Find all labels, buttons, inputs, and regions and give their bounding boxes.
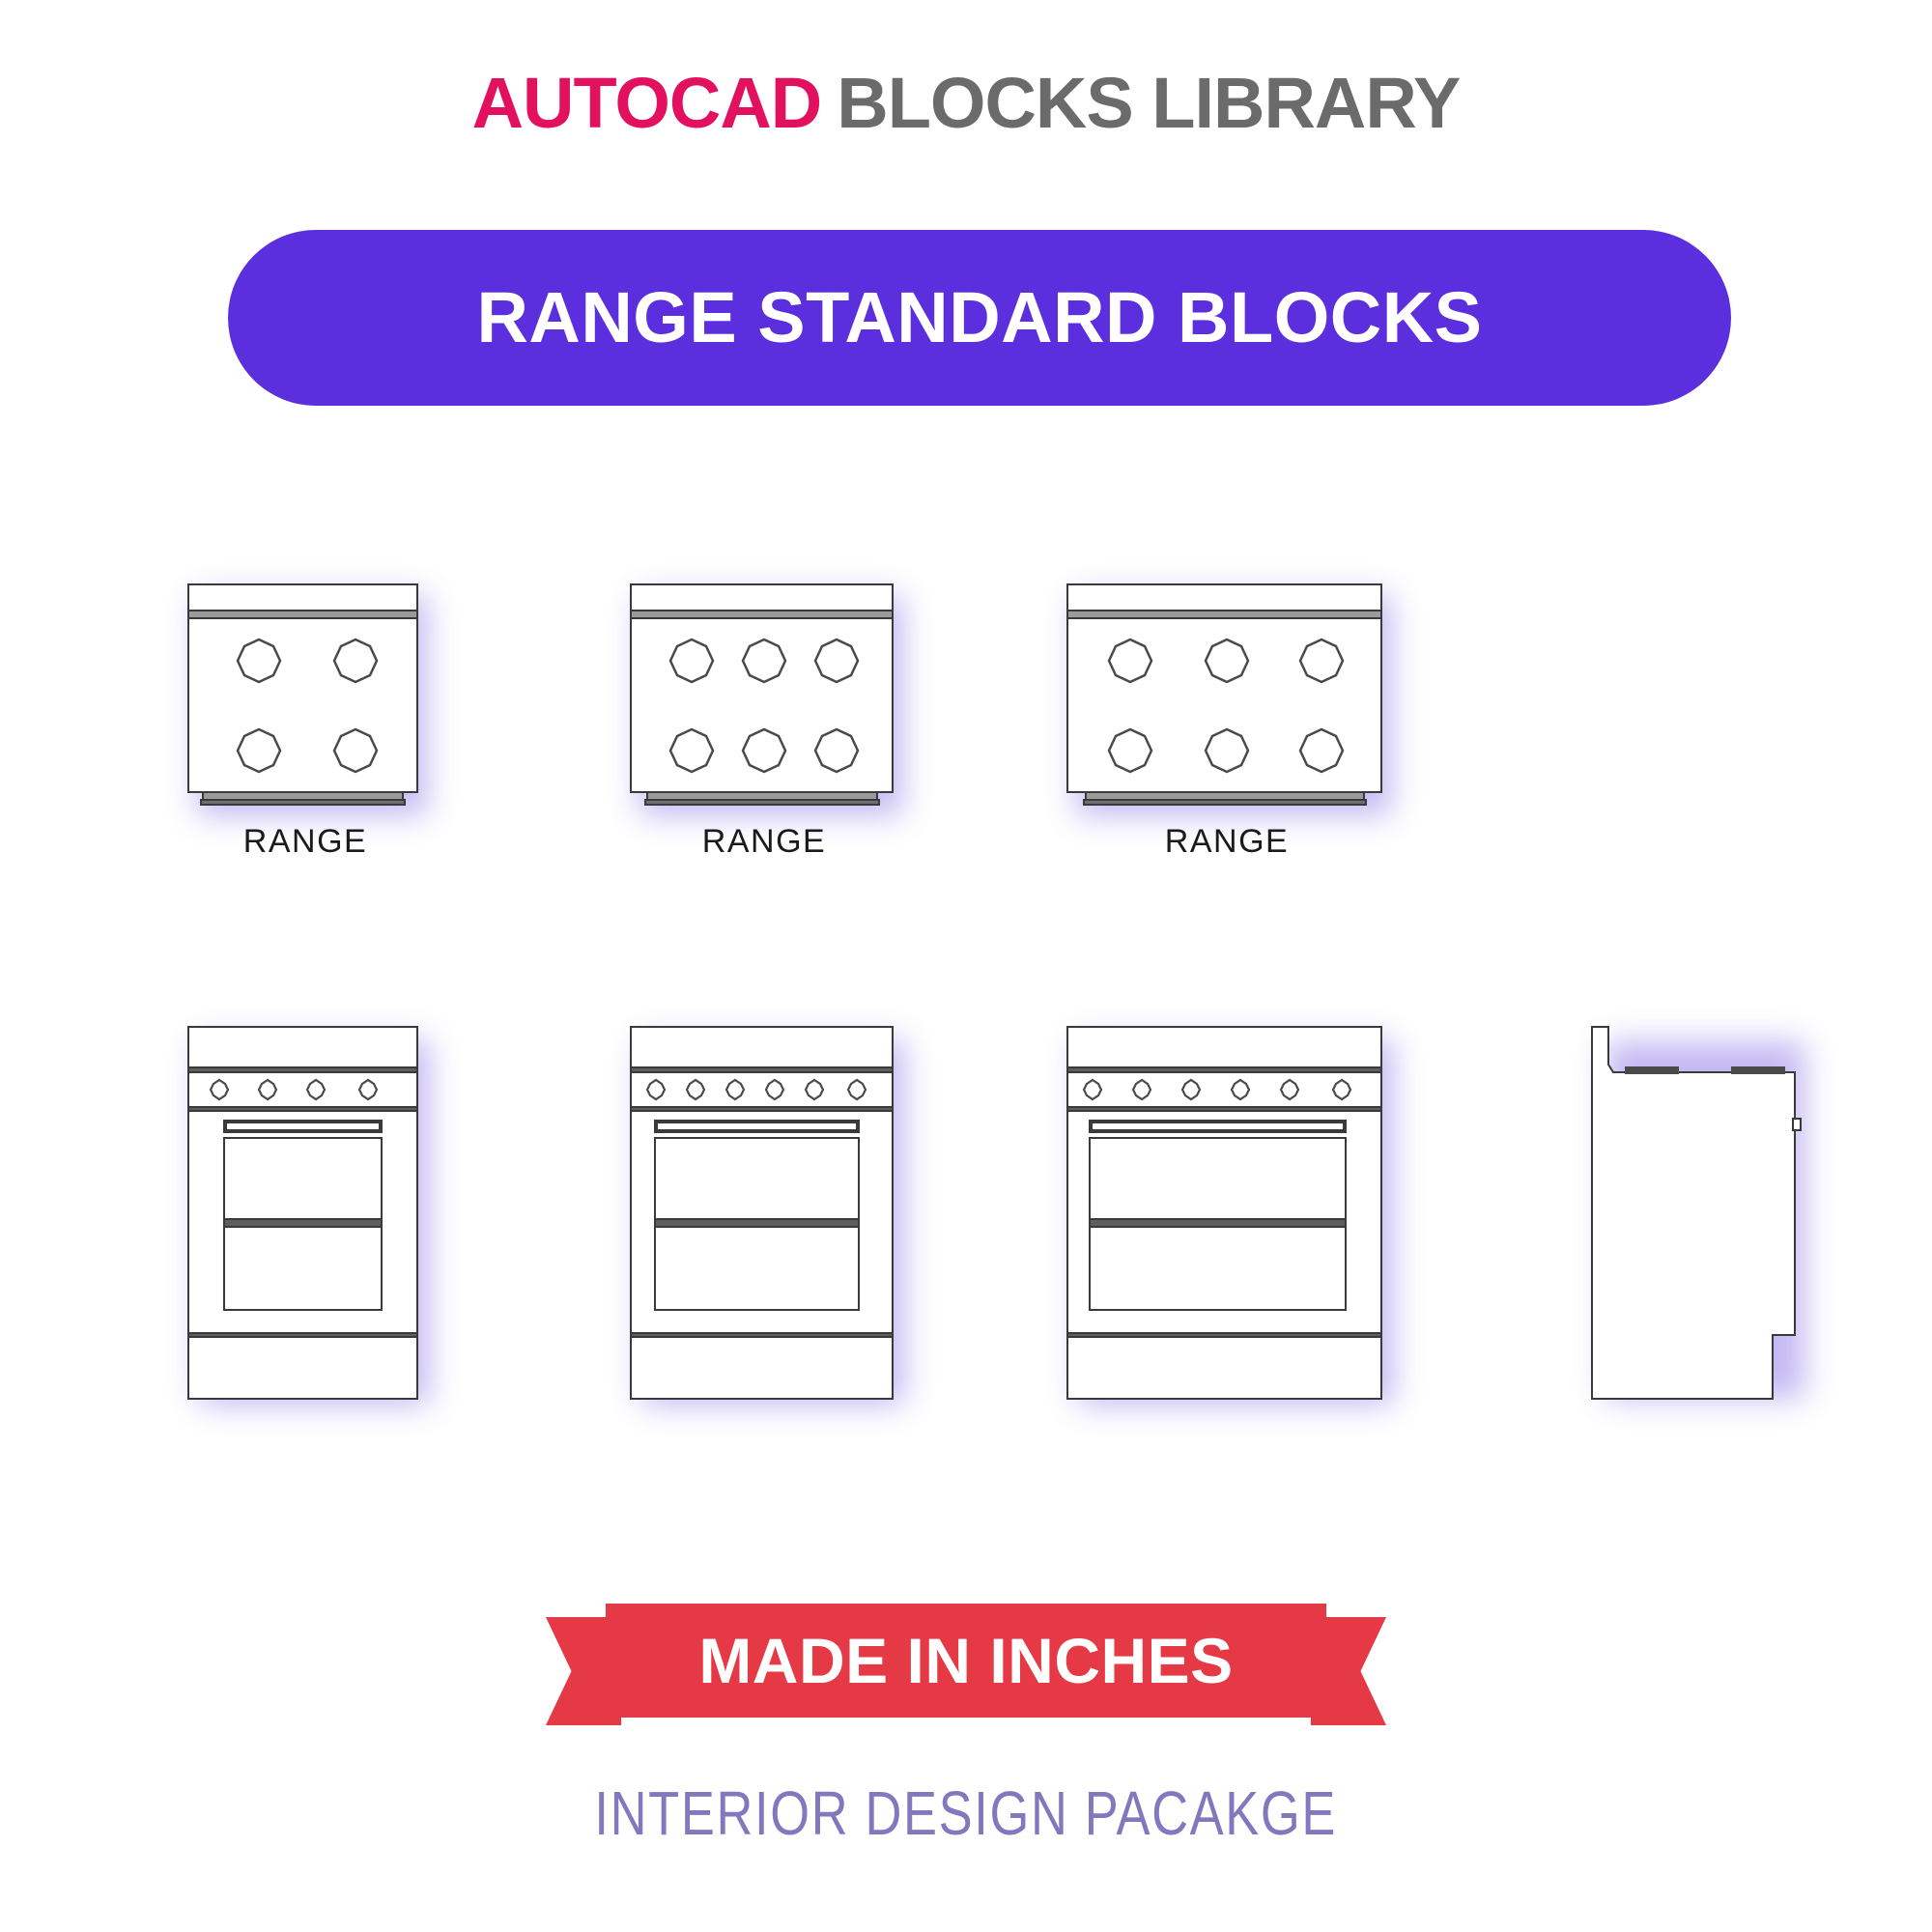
header-brand-autocad: AUTOCAD (472, 63, 822, 143)
range-label: RANGE (1063, 823, 1391, 861)
footer: INTERIOR DESIGN PACAKGE (0, 1782, 1932, 1844)
range-top-view-4-burner-drawing (184, 582, 427, 817)
ribbon-body: MADE IN INCHES (606, 1604, 1326, 1718)
range-side-elevation-drawing (1584, 1024, 1826, 1405)
range-top-view-6-burner-wide-drawing (1063, 582, 1391, 817)
range-front-elevation-4-knob[interactable] (184, 1024, 429, 1405)
category-banner-title: RANGE STANDARD BLOCKS (476, 282, 1482, 354)
footer-label: INTERIOR DESIGN PACAKGE (595, 1782, 1338, 1844)
range-top-view-6-burner[interactable]: RANGE (626, 582, 902, 817)
range-front-elevation-6-knob-wide[interactable] (1063, 1024, 1393, 1405)
page-title: AUTOCADBLOCKS LIBRARY (0, 68, 1932, 139)
blocks-canvas: RANGE (0, 541, 1932, 1546)
range-label: RANGE (626, 823, 902, 861)
range-label: RANGE (184, 823, 427, 861)
header-subtitle-blocks-library: BLOCKS LIBRARY (837, 63, 1460, 143)
range-front-elevation-4-knob-drawing (184, 1024, 429, 1405)
range-front-elevation-6-knob-drawing (626, 1024, 904, 1405)
category-banner: RANGE STANDARD BLOCKS (228, 230, 1731, 406)
range-top-view-4-burner[interactable]: RANGE (184, 582, 427, 817)
made-in-inches-ribbon: MADE IN INCHES (0, 1604, 1932, 1748)
range-top-view-6-burner-wide[interactable]: RANGE (1063, 582, 1391, 817)
range-front-elevation-6-knob-wide-drawing (1063, 1024, 1393, 1405)
range-front-elevation-6-knob[interactable] (626, 1024, 904, 1405)
ribbon-label: MADE IN INCHES (698, 1629, 1233, 1692)
page-root: AUTOCADBLOCKS LIBRARY RANGE STANDARD BLO… (0, 0, 1932, 1932)
range-side-elevation[interactable] (1584, 1024, 1826, 1405)
range-top-view-6-burner-drawing (626, 582, 902, 817)
